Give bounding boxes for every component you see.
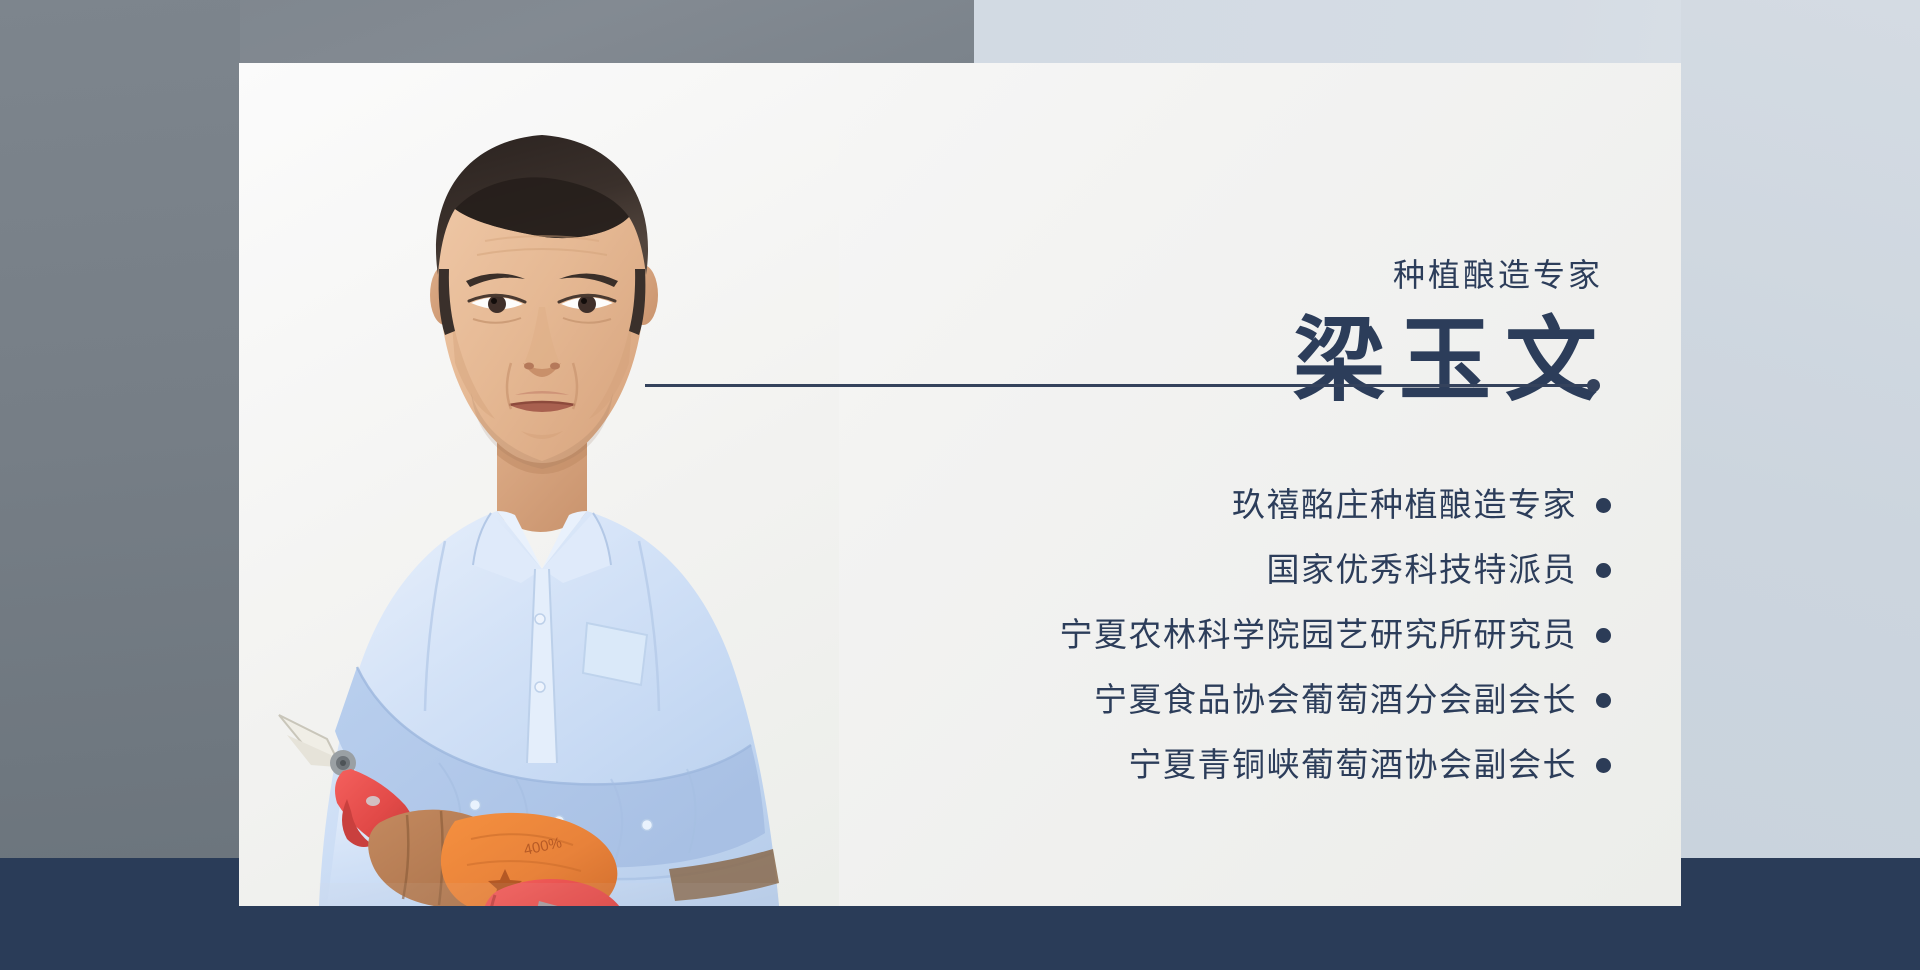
bullet-dot-icon <box>1596 628 1611 643</box>
bullet-dot-icon <box>1596 758 1611 773</box>
list-item: 玖禧酩庄种植酿造专家 <box>1232 483 1611 527</box>
expert-portrait-photo: 400% <box>239 63 839 906</box>
list-item: 国家优秀科技特派员 <box>1267 548 1612 592</box>
list-item: 宁夏食品协会葡萄酒分会副会长 <box>1094 678 1611 722</box>
credential-label: 国家优秀科技特派员 <box>1267 548 1578 592</box>
background-gray-left-column <box>0 0 240 858</box>
credential-label: 宁夏青铜峡葡萄酒协会副会长 <box>1129 743 1578 787</box>
bullet-dot-icon <box>1596 498 1611 513</box>
divider-line <box>645 384 1589 387</box>
portrait-illustration: 400% <box>239 63 839 906</box>
poster-canvas: 400% 种植酿造专家 梁玉文 <box>0 0 1920 970</box>
bullet-dot-icon <box>1596 563 1611 578</box>
credentials-list: 玖禧酩庄种植酿造专家 国家优秀科技特派员 宁夏农林科学院园艺研究所研究员 宁夏食… <box>1060 483 1612 787</box>
credential-label: 宁夏农林科学院园艺研究所研究员 <box>1060 613 1578 657</box>
credential-label: 玖禧酩庄种植酿造专家 <box>1232 483 1577 527</box>
expert-subtitle: 种植酿造专家 <box>1393 253 1603 297</box>
background-blue-right-column <box>1681 0 1920 858</box>
divider-end-dot-icon <box>1587 379 1600 392</box>
bullet-dot-icon <box>1596 693 1611 708</box>
credential-label: 宁夏食品协会葡萄酒分会副会长 <box>1094 678 1577 722</box>
expert-name: 梁玉文 <box>1293 307 1611 415</box>
header-divider <box>645 383 1600 387</box>
list-item: 宁夏青铜峡葡萄酒协会副会长 <box>1129 743 1612 787</box>
list-item: 宁夏农林科学院园艺研究所研究员 <box>1060 613 1612 657</box>
profile-card: 400% 种植酿造专家 梁玉文 <box>239 63 1681 906</box>
